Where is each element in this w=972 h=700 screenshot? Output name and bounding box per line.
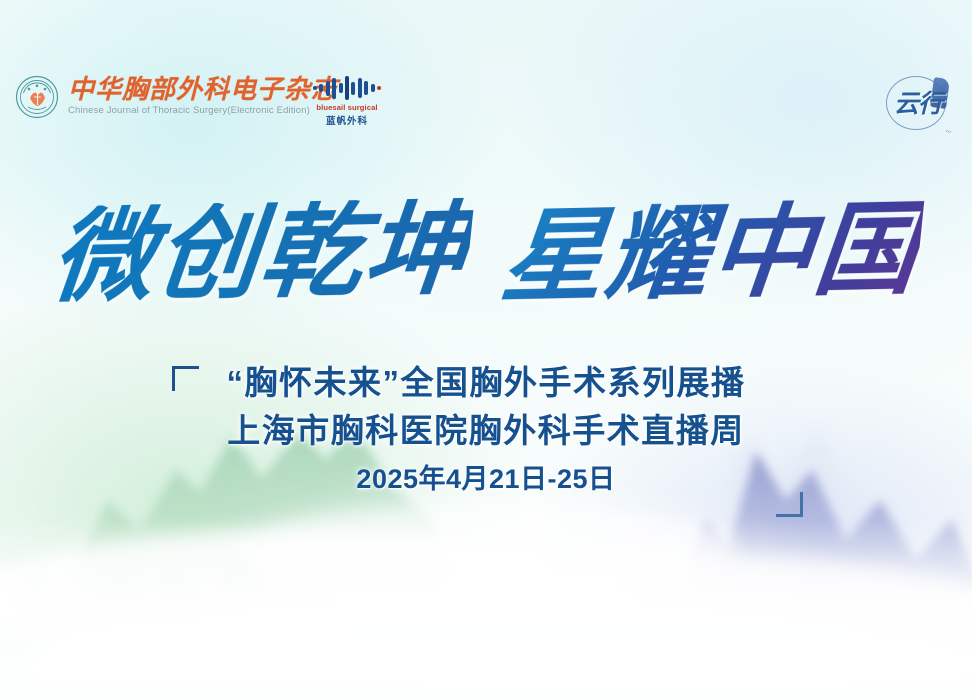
- platform-logo-yunxing: 云行 ～: [880, 68, 956, 138]
- sponsor-logo-row: 中华胸部外科电子杂志 Chinese Journal of Thoracic S…: [0, 74, 972, 138]
- sponsor-name-cn: 蓝帆外科: [308, 113, 386, 127]
- headline-part-2: 星耀中国: [497, 198, 924, 309]
- subtitle-line-1: “胸怀未来”全国胸外手术系列展播: [0, 362, 972, 404]
- journal-title-en: Chinese Journal of Thoracic Surgery(Elec…: [68, 106, 338, 116]
- journal-logo: 中华胸部外科电子杂志 Chinese Journal of Thoracic S…: [14, 74, 338, 120]
- platform-name-cn: 云行: [880, 84, 956, 120]
- poster-headline: 微创乾坤 星耀中国: [0, 178, 972, 328]
- event-date: 2025年4月21日-25日: [0, 461, 972, 497]
- journal-title-cn: 中华胸部外科电子杂志: [68, 77, 338, 104]
- background-mist-band-bottom: [0, 520, 972, 700]
- sponsor-logo-bluesail: bluesail surgical 蓝帆外科: [308, 76, 386, 127]
- background-fog-center: [120, 470, 880, 700]
- journal-seal-icon: [14, 74, 60, 120]
- journal-logo-text: 中华胸部外科电子杂志 Chinese Journal of Thoracic S…: [68, 77, 338, 117]
- yunxing-decor-mark: ～: [945, 127, 952, 136]
- headline-part-1: 微创乾坤: [47, 198, 474, 309]
- sound-bars-icon: [308, 76, 386, 100]
- subtitle-line-2: 上海市胸科医院胸外科手术直播周: [0, 410, 972, 452]
- poster-subtitle-block: “胸怀未来”全国胸外手术系列展播 上海市胸科医院胸外科手术直播周 2025年4月…: [0, 362, 972, 497]
- conference-poster: 中华胸部外科电子杂志 Chinese Journal of Thoracic S…: [0, 0, 972, 700]
- sponsor-name-en: bluesail surgical: [308, 103, 386, 112]
